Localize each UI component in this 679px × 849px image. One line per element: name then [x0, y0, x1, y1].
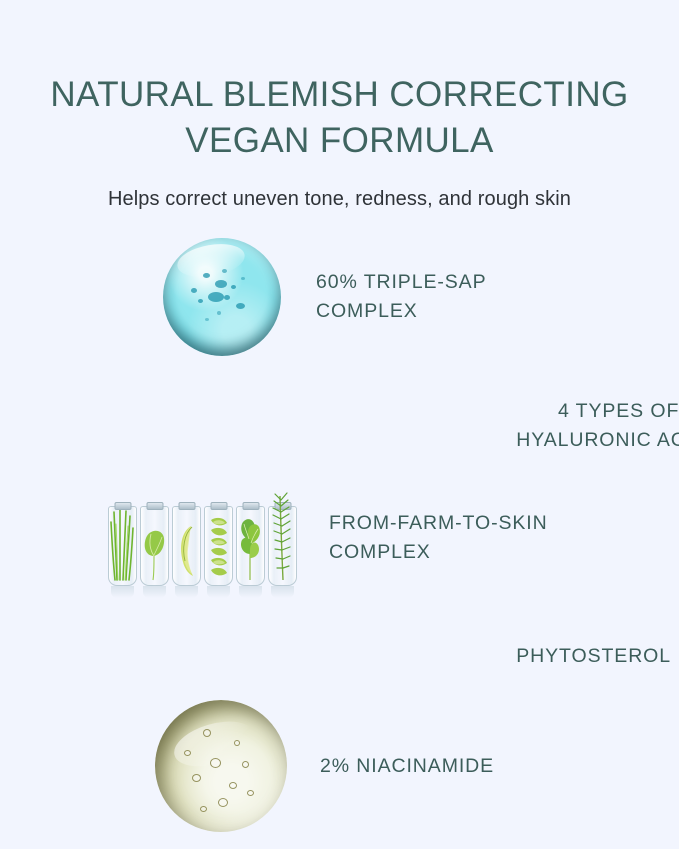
ingredient-label: PHYTOSTEROL — [516, 642, 671, 671]
ingredient-label: FROM-FARM-TO-SKIN COMPLEX — [329, 509, 548, 567]
infographic-page: NATURAL BLEMISH CORRECTING VEGAN FORMULA… — [0, 0, 679, 849]
ingredient-row-farm-to-skin: FROM-FARM-TO-SKIN COMPLEX — [0, 490, 679, 586]
page-title: NATURAL BLEMISH CORRECTING VEGAN FORMULA — [0, 72, 679, 164]
ingredient-label: 60% TRIPLE-SAP COMPLEX — [316, 268, 486, 326]
vial-grass — [108, 506, 137, 586]
vial-avocado — [172, 506, 201, 586]
vial-round-leaf — [140, 506, 169, 586]
botanical-vials-icon — [108, 490, 297, 586]
olive-gel-drop-icon — [155, 700, 287, 832]
vial-rosemary — [268, 506, 297, 586]
ingredient-label: 2% NIACINAMIDE — [320, 752, 494, 781]
turquoise-gel-drop-icon — [163, 238, 281, 356]
ingredient-row-phytosterol: PHYTOSTEROL — [0, 600, 679, 713]
ingredient-label: 4 TYPES OF HYALURONIC ACIDS — [516, 397, 679, 455]
ingredient-row-hyaluronic: 4 TYPES OF HYALURONIC ACIDS — [0, 368, 679, 484]
vial-mint — [236, 506, 265, 586]
vial-aloe — [204, 506, 233, 586]
ingredient-row-triple-sap: 60% TRIPLE-SAP COMPLEX — [0, 238, 679, 356]
page-subtitle: Helps correct uneven tone, redness, and … — [0, 186, 679, 212]
ingredient-row-niacinamide: 2% NIACINAMIDE — [0, 700, 679, 832]
